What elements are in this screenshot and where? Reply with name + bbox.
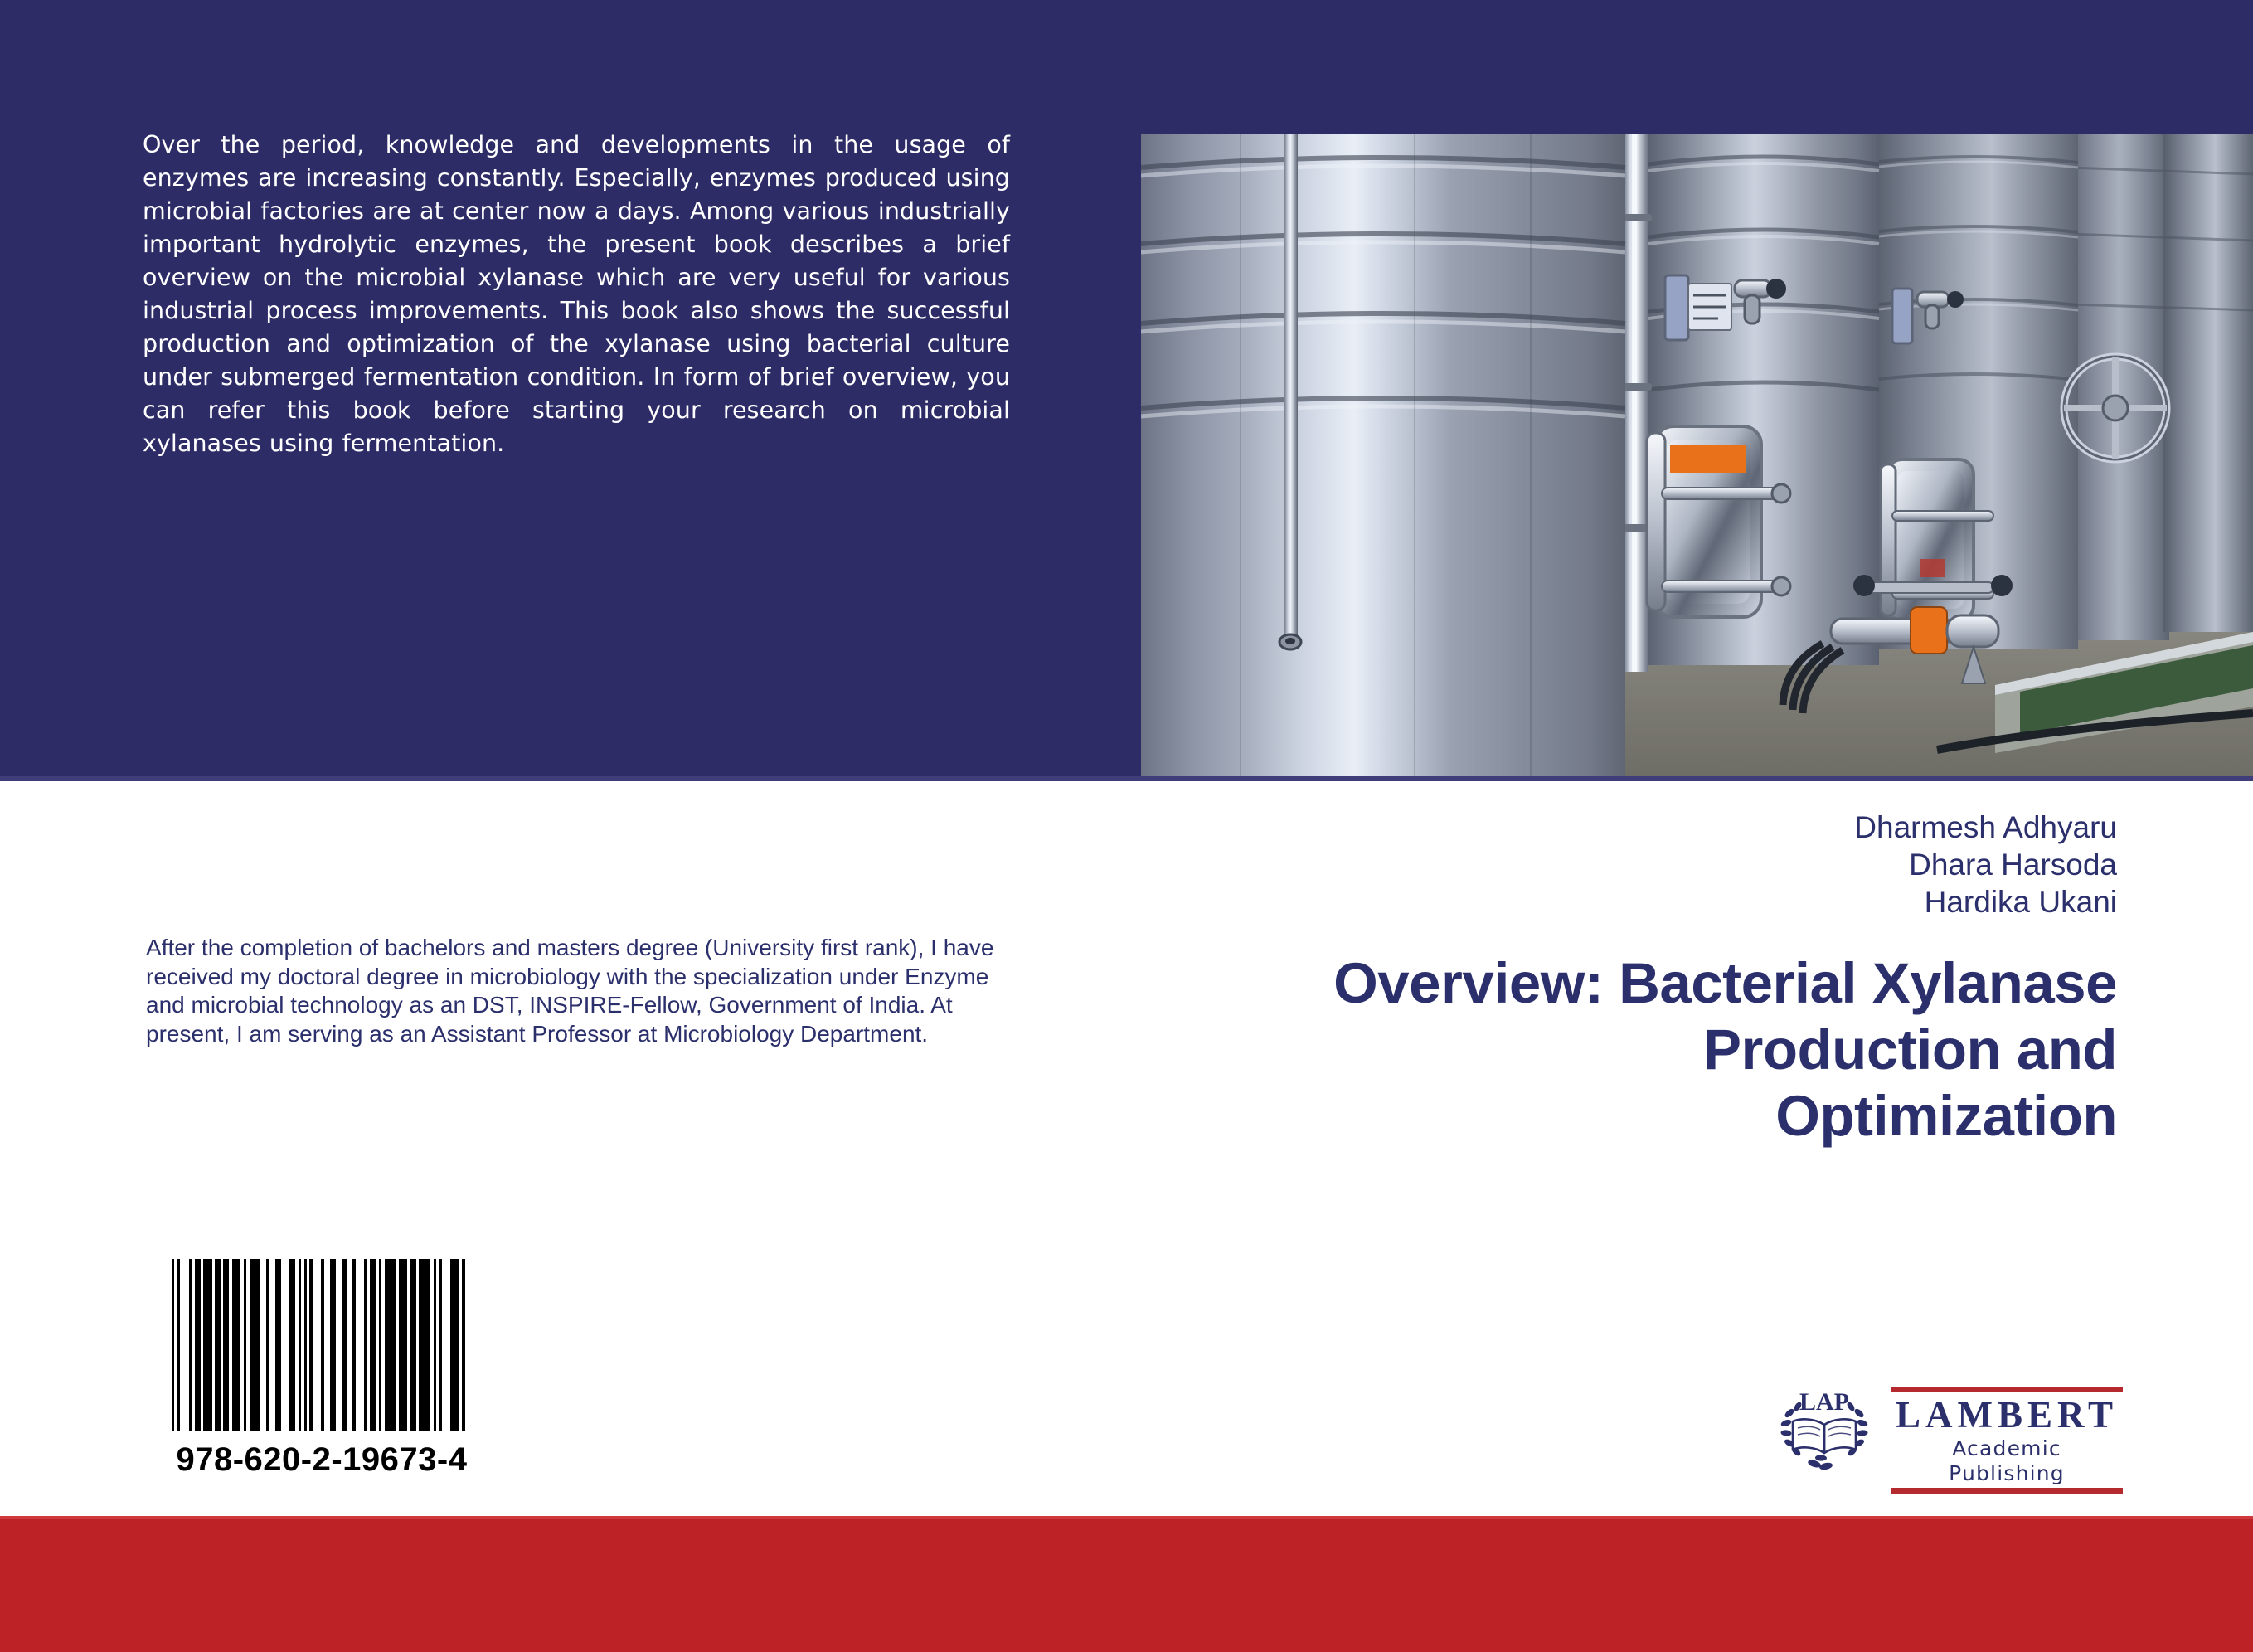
book-title: Overview: Bacterial Xylanase Production …	[956, 950, 2117, 1149]
book-title-line: Production and	[956, 1017, 2117, 1083]
book-title-line: Overview: Bacterial Xylanase	[956, 950, 2117, 1017]
logo-rule-top	[1891, 1387, 2123, 1392]
lap-book-wreath-icon: LAP	[1778, 1385, 1871, 1475]
publisher-name: LAMBERT	[1891, 1392, 2123, 1436]
logo-rule-bottom	[1891, 1488, 2123, 1494]
back-cover-blurb: Over the period, knowledge and developme…	[143, 129, 1010, 460]
lambert-wordmark: LAMBERT Academic Publishing	[1891, 1387, 2123, 1494]
author-name: Dhara Harsoda	[1122, 846, 2117, 883]
publisher-tagline: Academic Publishing	[1891, 1436, 2123, 1488]
book-title-line: Optimization	[956, 1083, 2117, 1149]
barcode-block: 978-620-2-19673-4	[159, 1259, 484, 1479]
cover-photo-fermentation-tanks	[1141, 134, 2253, 776]
barcode-image	[166, 1259, 471, 1431]
author-list: Dharmesh Adhyaru Dhara Harsoda Hardika U…	[1122, 809, 2117, 921]
publisher-logo: LAP LAMBERT Academic Publishing	[1778, 1383, 2123, 1480]
bottom-red-band-highlight	[0, 1516, 2253, 1519]
author-bio: After the completion of bachelors and ma…	[146, 934, 1000, 1048]
author-name: Hardika Ukani	[1122, 883, 2117, 921]
isbn-number: 978-620-2-19673-4	[159, 1441, 484, 1479]
author-name: Dharmesh Adhyaru	[1122, 809, 2117, 846]
bottom-red-band	[0, 1516, 2253, 1652]
svg-text:LAP: LAP	[1799, 1388, 1849, 1416]
